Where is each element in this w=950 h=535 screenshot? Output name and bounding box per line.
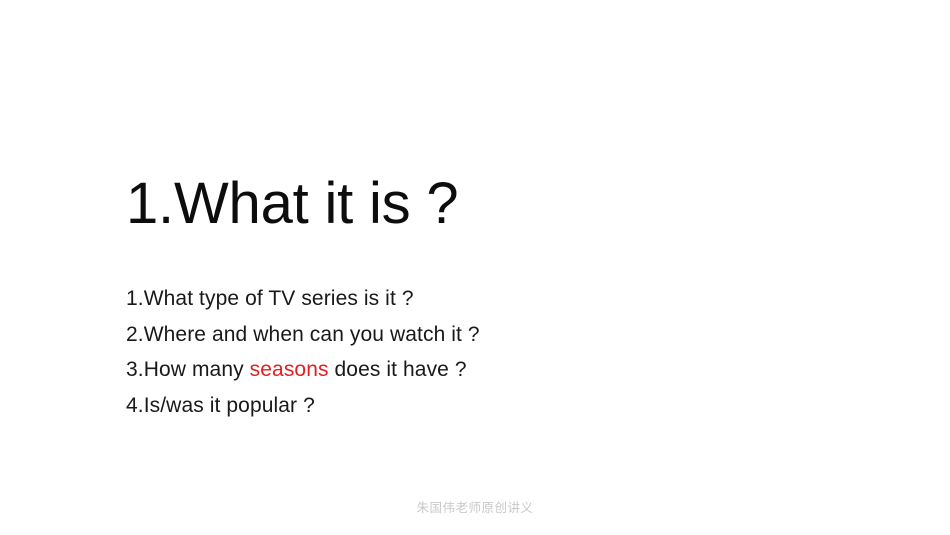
question-list: 1.What type of TV series is it ? 2.Where… xyxy=(126,281,846,423)
highlighted-word-seasons: seasons xyxy=(250,358,329,381)
list-item-text-after-highlight: does it have ? xyxy=(329,358,467,381)
list-item: 2.Where and when can you watch it ? xyxy=(126,317,846,353)
footer-watermark: 朱国伟老师原创讲义 xyxy=(0,500,950,516)
slide-canvas: 1.What it is ? 1.What type of TV series … xyxy=(0,0,950,535)
list-item: 3.How many seasons does it have ? xyxy=(126,352,846,388)
list-item: 1.What type of TV series is it ? xyxy=(126,281,846,317)
list-item: 4.Is/was it popular ? xyxy=(126,388,846,424)
page-title: 1.What it is ? xyxy=(126,173,826,236)
list-item-text-before-highlight: 3.How many xyxy=(126,358,250,381)
